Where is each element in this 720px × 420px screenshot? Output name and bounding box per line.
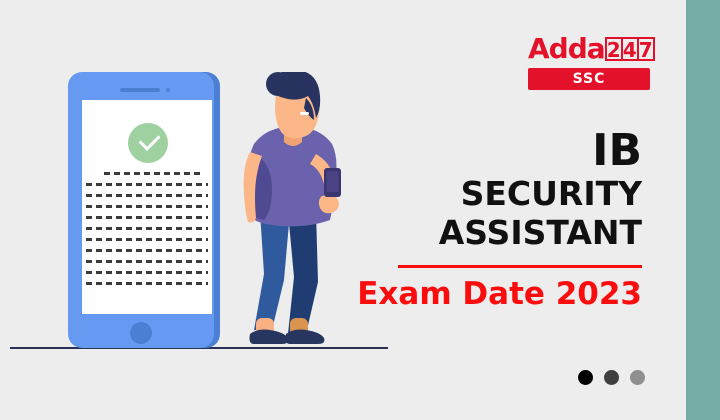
leg-back <box>288 212 318 334</box>
phone-body <box>68 72 214 348</box>
screen-text-line <box>86 194 208 197</box>
screen-text-line <box>86 282 208 285</box>
headline-line-security: SECURITY <box>342 174 642 213</box>
smartphone-illustration <box>62 66 222 348</box>
checkmark-glyph <box>139 129 161 151</box>
logo-wordmark: Adda 2 4 7 <box>528 34 650 64</box>
headline-block: IB SECURITY ASSISTANT Exam Date 2023 <box>342 128 642 312</box>
logo-text-adda: Adda <box>528 35 605 63</box>
screen-text-line <box>86 271 208 274</box>
screen-text-line <box>86 205 208 208</box>
leg-front <box>254 212 290 330</box>
pager-dot-2[interactable] <box>604 370 619 385</box>
held-phone-screen <box>327 171 339 192</box>
pager-dots[interactable] <box>578 370 645 385</box>
pager-dot-1[interactable] <box>578 370 593 385</box>
brand-logo[interactable]: Adda 2 4 7 SSC <box>528 34 650 92</box>
right-accent-bar <box>686 0 720 420</box>
hand <box>319 195 339 214</box>
woman-holding-phone-illustration <box>232 72 362 350</box>
pager-dot-3[interactable] <box>630 370 645 385</box>
shoe-front <box>250 330 289 345</box>
headline-subtitle: Exam Date 2023 <box>342 276 642 312</box>
screen-text-line <box>86 227 208 230</box>
screen-text-line <box>86 260 208 263</box>
headline-line-ib: IB <box>342 128 642 174</box>
phone-speaker-icon <box>120 88 160 92</box>
promo-banner: Adda 2 4 7 SSC IB SECURITY ASSISTANT Exa… <box>0 0 720 420</box>
shoe-back <box>286 330 325 345</box>
phone-camera-icon <box>166 88 170 92</box>
phone-home-button <box>130 322 152 344</box>
screen-text-lines <box>82 172 212 293</box>
screen-text-line <box>86 183 208 186</box>
phone-screen <box>82 100 212 314</box>
logo-digit-7: 7 <box>637 37 655 61</box>
mouth <box>300 112 309 115</box>
logo-ssc-banner: SSC <box>528 68 650 90</box>
screen-text-line <box>86 238 208 241</box>
headline-divider <box>398 265 642 268</box>
screen-text-line <box>86 216 208 219</box>
screen-text-line <box>104 172 204 175</box>
screen-text-line <box>86 249 208 252</box>
headline-line-assistant: ASSISTANT <box>342 213 642 252</box>
logo-digit-group: 2 4 7 <box>607 37 655 61</box>
success-check-icon <box>128 123 168 163</box>
